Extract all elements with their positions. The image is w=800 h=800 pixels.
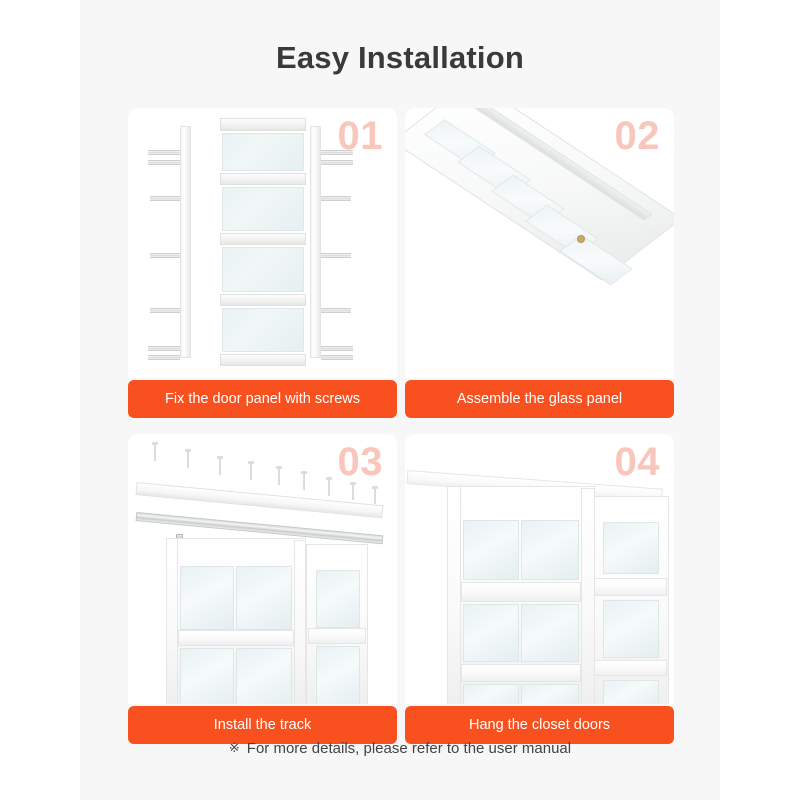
screw-icon (150, 308, 180, 313)
door-rail (220, 173, 306, 185)
glass-pane (180, 566, 234, 630)
step-number-03: 03 (338, 440, 384, 485)
screw-icon (321, 196, 351, 201)
glass-pane (521, 604, 579, 662)
door-rail (220, 233, 306, 245)
door-rail-top (220, 118, 306, 131)
step-illustration-03: 03 (128, 434, 397, 704)
door-stile-right (310, 126, 321, 358)
glass-pane (222, 133, 304, 171)
door-rail (461, 582, 581, 602)
step-illustration-04: 04 (405, 434, 674, 704)
glass-pane (222, 247, 304, 292)
step-number-01: 01 (338, 114, 384, 159)
nail-icon (250, 463, 252, 480)
glass-pane (463, 684, 519, 704)
screw-icon (148, 346, 180, 351)
door-stile-right (294, 540, 306, 704)
screw-icon (321, 160, 353, 165)
glass-pane (521, 684, 579, 704)
steps-grid: 01 Fix the door panel with screws (128, 108, 674, 744)
footer-note-text: For more details, please refer to the us… (247, 740, 571, 757)
glass-pane (316, 646, 360, 704)
door-rail (220, 294, 306, 306)
step-card-04[interactable]: 04 Hang the closet doors (405, 434, 674, 744)
door-stile-left (447, 486, 461, 704)
step-caption-01[interactable]: Fix the door panel with screws (128, 380, 397, 418)
step-caption-04[interactable]: Hang the closet doors (405, 706, 674, 744)
installation-guide-page: Easy Installation (0, 0, 800, 800)
nail-icon (303, 473, 305, 490)
step-number-04: 04 (615, 440, 661, 485)
glass-pane (463, 604, 519, 662)
header-board (135, 482, 383, 518)
glass-pane (603, 600, 659, 658)
door-body (220, 118, 306, 366)
step-card-01[interactable]: 01 Fix the door panel with screws (128, 108, 397, 418)
page-title: Easy Installation (80, 40, 720, 76)
glass-pane (222, 187, 304, 231)
nail-icon (187, 451, 189, 468)
content-panel: Easy Installation (80, 0, 720, 800)
footer-note: ※For more details, please refer to the u… (80, 740, 720, 757)
step-illustration-02: 02 (405, 108, 674, 378)
screw-icon (148, 150, 180, 155)
door-rail (308, 628, 366, 644)
screw-icon (321, 346, 353, 351)
glass-pane (463, 520, 519, 580)
door-stile-left (166, 538, 178, 704)
nail-icon (278, 468, 280, 485)
step-card-03[interactable]: 03 Install the track (128, 434, 397, 744)
glass-pane (222, 308, 304, 352)
nail-icon (219, 458, 221, 475)
glass-pane (316, 570, 360, 628)
step-illustration-01: 01 (128, 108, 397, 378)
screw-icon (150, 253, 180, 258)
screw-icon (321, 355, 353, 360)
glass-pane (236, 648, 292, 704)
door-latch-icon (578, 236, 584, 242)
nail-icon (154, 444, 156, 461)
screw-icon (150, 196, 180, 201)
door-rail (593, 578, 667, 596)
glass-pane (603, 522, 659, 574)
screw-icon (148, 160, 180, 165)
screw-icon (321, 308, 351, 313)
reference-mark-icon: ※ (229, 740, 240, 755)
glass-pane (603, 680, 659, 704)
step-caption-02[interactable]: Assemble the glass panel (405, 380, 674, 418)
door-rail (593, 660, 667, 676)
door-rail-bottom (220, 354, 306, 366)
nail-icon (328, 479, 330, 496)
glass-pane (236, 566, 292, 630)
step-card-02[interactable]: 02 Assemble the glass panel (405, 108, 674, 418)
door-stile-right (581, 488, 595, 704)
step-caption-03[interactable]: Install the track (128, 706, 397, 744)
screw-icon (321, 253, 351, 258)
screw-icon (148, 355, 180, 360)
glass-pane (180, 648, 234, 704)
nail-icon (352, 484, 354, 500)
door-rail (461, 664, 581, 682)
step-number-02: 02 (615, 114, 661, 159)
nail-icon (374, 488, 376, 504)
door-stile-left (180, 126, 191, 358)
door-rail (178, 630, 294, 646)
glass-pane (521, 520, 579, 580)
